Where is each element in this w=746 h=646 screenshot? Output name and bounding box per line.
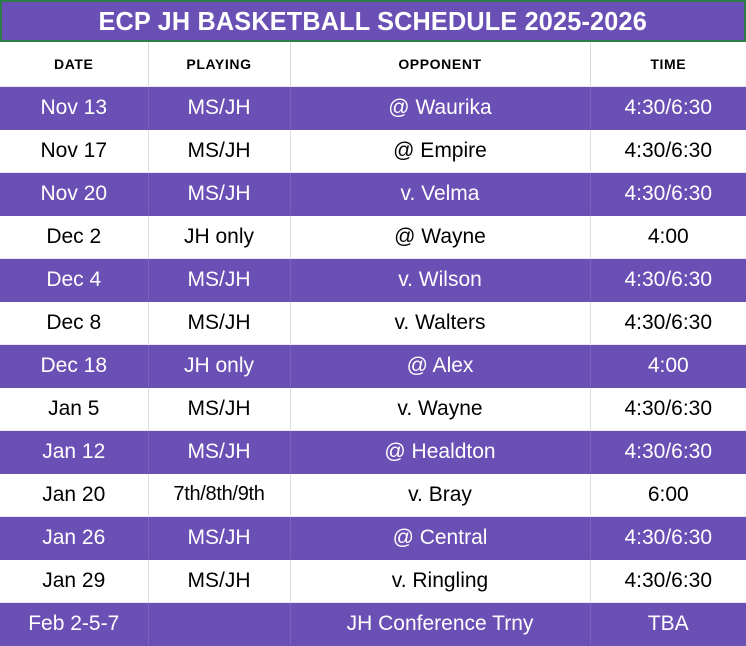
cell-opponent: @ Wayne — [290, 215, 590, 258]
column-header-opponent: OPPONENT — [290, 42, 590, 86]
table-body: Nov 13MS/JH@ Waurika4:30/6:30Nov 17MS/JH… — [0, 86, 746, 645]
cell-date: Jan 5 — [0, 387, 148, 430]
cell-time: 4:30/6:30 — [590, 387, 746, 430]
cell-time: 4:30/6:30 — [590, 516, 746, 559]
cell-date: Jan 26 — [0, 516, 148, 559]
table-row: Jan 5MS/JHv. Wayne4:30/6:30 — [0, 387, 746, 430]
cell-playing: MS/JH — [148, 559, 290, 602]
cell-playing: MS/JH — [148, 301, 290, 344]
cell-date: Feb 2-5-7 — [0, 602, 148, 645]
cell-date: Jan 20 — [0, 473, 148, 516]
cell-playing: MS/JH — [148, 86, 290, 129]
cell-playing: MS/JH — [148, 172, 290, 215]
cell-date: Nov 20 — [0, 172, 148, 215]
cell-date: Dec 18 — [0, 344, 148, 387]
table-row: Feb 2-5-7JH Conference TrnyTBA — [0, 602, 746, 645]
table-header-row: DATE PLAYING OPPONENT TIME — [0, 42, 746, 86]
cell-opponent: JH Conference Trny — [290, 602, 590, 645]
cell-opponent: v. Velma — [290, 172, 590, 215]
column-header-time: TIME — [590, 42, 746, 86]
cell-opponent: v. Wayne — [290, 387, 590, 430]
cell-time: 4:30/6:30 — [590, 129, 746, 172]
table-row: Dec 8MS/JHv. Walters4:30/6:30 — [0, 301, 746, 344]
cell-opponent: @ Alex — [290, 344, 590, 387]
cell-opponent: v. Walters — [290, 301, 590, 344]
cell-time: 4:00 — [590, 344, 746, 387]
cell-opponent: @ Waurika — [290, 86, 590, 129]
cell-date: Dec 4 — [0, 258, 148, 301]
cell-date: Jan 12 — [0, 430, 148, 473]
column-header-playing: PLAYING — [148, 42, 290, 86]
cell-time: 4:00 — [590, 215, 746, 258]
table-row: Jan 12MS/JH@ Healdton4:30/6:30 — [0, 430, 746, 473]
cell-date: Dec 2 — [0, 215, 148, 258]
table-row: Jan 207th/8th/9thv. Bray6:00 — [0, 473, 746, 516]
cell-date: Dec 8 — [0, 301, 148, 344]
cell-date: Nov 17 — [0, 129, 148, 172]
schedule-sheet: ECP JH BASKETBALL SCHEDULE 2025-2026 DAT… — [0, 0, 746, 634]
cell-playing: MS/JH — [148, 516, 290, 559]
column-header-date: DATE — [0, 42, 148, 86]
cell-opponent: v. Wilson — [290, 258, 590, 301]
cell-time: 4:30/6:30 — [590, 430, 746, 473]
table-row: Nov 20MS/JHv. Velma4:30/6:30 — [0, 172, 746, 215]
cell-opponent: v. Ringling — [290, 559, 590, 602]
cell-time: 4:30/6:30 — [590, 258, 746, 301]
cell-time: 4:30/6:30 — [590, 301, 746, 344]
cell-opponent: @ Empire — [290, 129, 590, 172]
table-row: Dec 2JH only@ Wayne4:00 — [0, 215, 746, 258]
cell-playing: MS/JH — [148, 129, 290, 172]
table-row: Jan 29MS/JHv. Ringling4:30/6:30 — [0, 559, 746, 602]
table-header: DATE PLAYING OPPONENT TIME — [0, 42, 746, 86]
cell-playing — [148, 602, 290, 645]
cell-time: 4:30/6:30 — [590, 86, 746, 129]
schedule-title-bar: ECP JH BASKETBALL SCHEDULE 2025-2026 — [0, 0, 746, 42]
cell-playing: 7th/8th/9th — [148, 473, 290, 516]
cell-playing: MS/JH — [148, 387, 290, 430]
table-row: Nov 17MS/JH@ Empire4:30/6:30 — [0, 129, 746, 172]
cell-opponent: @ Healdton — [290, 430, 590, 473]
table-row: Jan 26MS/JH@ Central4:30/6:30 — [0, 516, 746, 559]
cell-playing: JH only — [148, 215, 290, 258]
cell-playing: MS/JH — [148, 430, 290, 473]
table-row: Nov 13MS/JH@ Waurika4:30/6:30 — [0, 86, 746, 129]
cell-time: TBA — [590, 602, 746, 645]
cell-playing: JH only — [148, 344, 290, 387]
schedule-table: DATE PLAYING OPPONENT TIME Nov 13MS/JH@ … — [0, 42, 746, 646]
table-row: Dec 18JH only@ Alex4:00 — [0, 344, 746, 387]
cell-time: 4:30/6:30 — [590, 172, 746, 215]
cell-date: Nov 13 — [0, 86, 148, 129]
cell-time: 6:00 — [590, 473, 746, 516]
cell-time: 4:30/6:30 — [590, 559, 746, 602]
page-title: ECP JH BASKETBALL SCHEDULE 2025-2026 — [99, 6, 647, 37]
cell-opponent: v. Bray — [290, 473, 590, 516]
cell-opponent: @ Central — [290, 516, 590, 559]
table-row: Dec 4MS/JHv. Wilson4:30/6:30 — [0, 258, 746, 301]
cell-date: Jan 29 — [0, 559, 148, 602]
cell-playing: MS/JH — [148, 258, 290, 301]
